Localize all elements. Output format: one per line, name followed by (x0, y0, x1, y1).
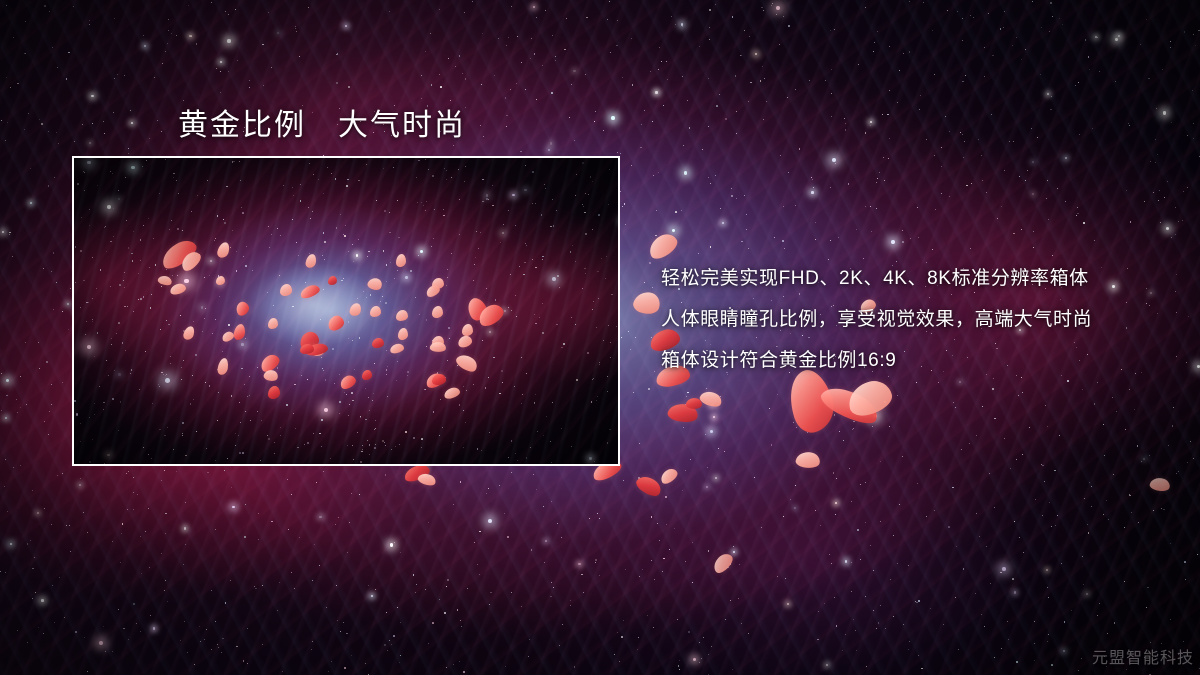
slide-title: 黄金比例 大气时尚 (178, 100, 466, 144)
presentation-slide: 黄金比例 大气时尚 轻松完美实现FHD、2K、4K、8K标准分辨率箱体 人体眼睛… (0, 0, 1200, 675)
body-text-block: 轻松完美实现FHD、2K、4K、8K标准分辨率箱体 人体眼睛瞳孔比例，享受视觉效… (661, 258, 1181, 381)
body-line-3: 箱体设计符合黄金比例16:9 (661, 340, 1181, 381)
framed-preview-panel[interactable] (72, 156, 620, 466)
watermark-logo-text: 元盟智能科技 (1092, 644, 1194, 668)
body-line-1: 轻松完美实现FHD、2K、4K、8K标准分辨率箱体 (661, 258, 1181, 299)
panel-vignette (74, 158, 618, 464)
body-line-2: 人体眼睛瞳孔比例，享受视觉效果，高端大气时尚 (661, 299, 1181, 340)
